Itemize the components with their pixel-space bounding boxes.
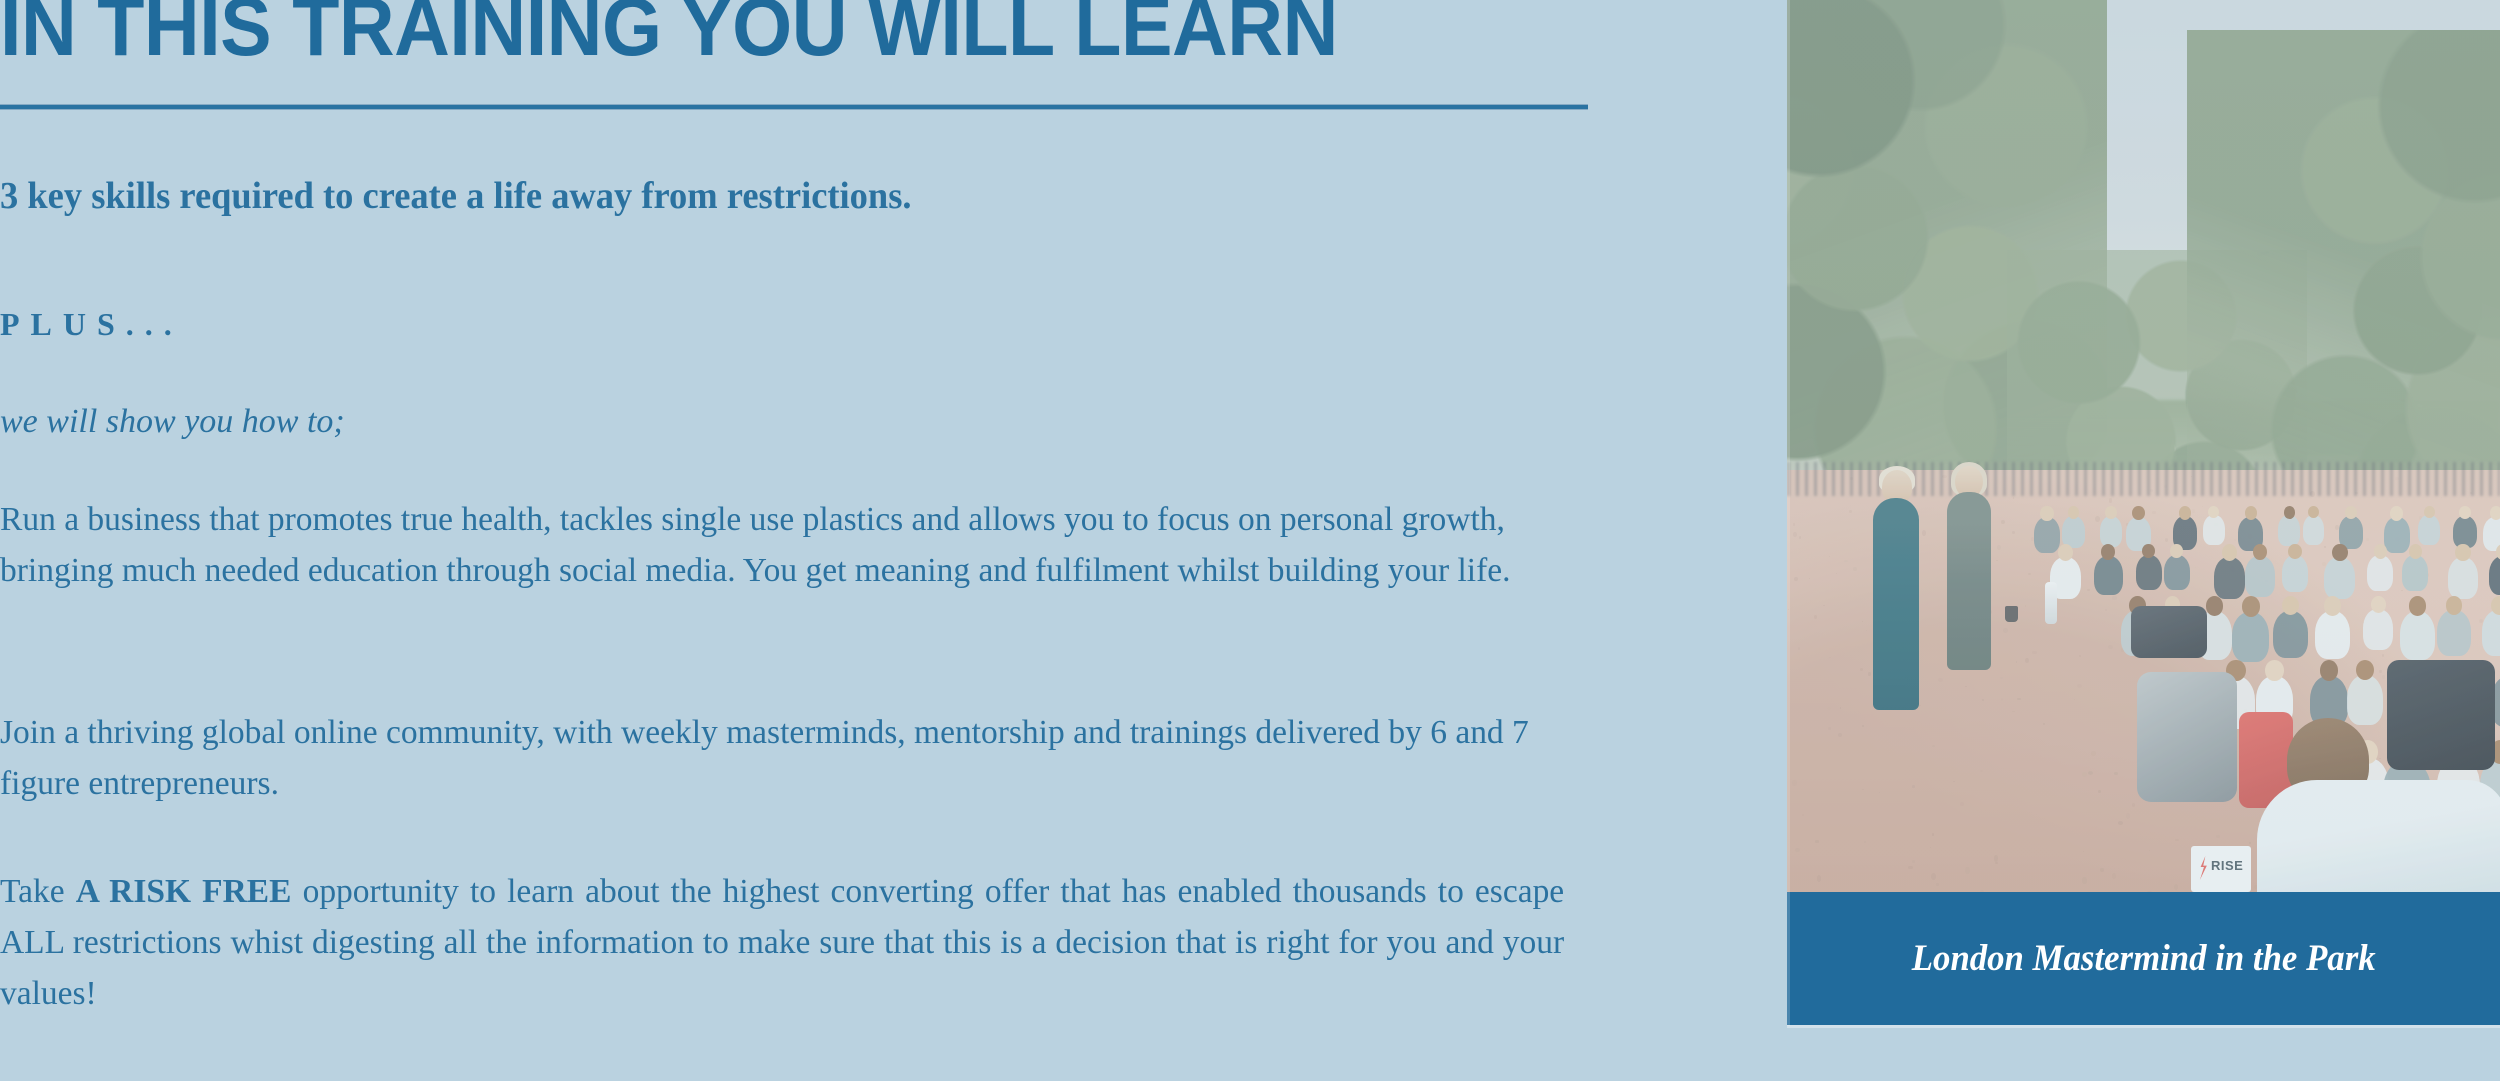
seated-person-head — [2455, 544, 2470, 561]
seated-person-head — [2491, 596, 2500, 615]
ground-texture-speck — [1953, 781, 1955, 782]
park-mastermind-photo: RISE — [1787, 0, 2500, 892]
subheading: 3 key skills required to create a life a… — [0, 172, 1526, 220]
seated-person — [2062, 516, 2085, 548]
ground-texture-speck — [1829, 556, 1830, 557]
paragraph-business: Run a business that promotes true health… — [0, 494, 1564, 596]
ground-texture-speck — [1849, 510, 1852, 513]
ground-texture-speck — [1844, 560, 1848, 563]
seated-person — [2418, 515, 2440, 545]
ground-texture-speck — [1879, 792, 1880, 793]
ground-texture-speck — [1795, 848, 1800, 852]
ground-texture-speck — [1866, 630, 1867, 631]
standing-person-a — [1873, 498, 1919, 710]
photo-caption-text: London Mastermind in the Park — [1912, 937, 2376, 981]
seated-person-head — [2242, 596, 2260, 617]
backpack-dark-small — [2131, 606, 2207, 658]
seated-person — [2400, 611, 2436, 660]
ground-texture-speck — [1793, 523, 1796, 526]
ground-texture-speck — [1793, 532, 1797, 537]
backpack-grey — [2137, 672, 2237, 802]
seated-person — [2214, 557, 2245, 599]
ground-texture-speck — [1838, 733, 1842, 737]
page-title: IN THIS TRAINING YOU WILL LEARN — [0, 0, 1479, 72]
seated-person — [2482, 610, 2500, 656]
seated-person — [2402, 555, 2428, 591]
photo-panel: RISE London Mastermind in the Park — [1787, 0, 2500, 1026]
ground-texture-speck — [1829, 657, 1831, 658]
seated-person — [2094, 556, 2123, 595]
photo-panel-bottom-edge — [1787, 1025, 2500, 1028]
seated-person-head — [2390, 506, 2403, 521]
seated-person-head — [2288, 544, 2301, 559]
ground-texture-speck — [2013, 497, 2015, 498]
seated-person-head — [2332, 544, 2347, 561]
water-bottle — [2045, 582, 2057, 624]
seated-person — [2363, 609, 2393, 650]
seated-person-head — [2179, 506, 2191, 520]
seated-person-head — [2132, 506, 2145, 520]
backpack-black — [2387, 660, 2495, 770]
ground-texture-speck — [1814, 615, 1817, 619]
ground-texture-speck — [2441, 497, 2442, 498]
ground-texture-speck — [1960, 802, 1964, 806]
rise-logo-text: RISE — [2211, 858, 2243, 873]
seated-person — [2489, 556, 2500, 595]
ground-texture-speck — [1815, 840, 1818, 843]
ground-texture-speck — [1794, 577, 1798, 581]
ground-texture-speck — [1799, 536, 1801, 538]
paragraph-risk-free: Take A RISK FREE opportunity to learn ab… — [0, 866, 1564, 1019]
ground-texture-speck — [1864, 841, 1866, 843]
seated-person — [2448, 557, 2479, 599]
promo-panel: IN THIS TRAINING YOU WILL LEARN 3 key sk… — [0, 0, 2500, 1081]
ground-texture-speck — [1828, 727, 1831, 730]
foreground-person-body — [2257, 780, 2500, 892]
ground-texture-speck — [1912, 860, 1915, 863]
seated-person — [2384, 517, 2410, 553]
seated-person-head — [2245, 506, 2257, 520]
seated-person — [2100, 516, 2123, 547]
seated-person — [2136, 555, 2162, 590]
seated-person — [2437, 610, 2470, 656]
ground-texture-speck — [1868, 672, 1871, 675]
ground-texture-speck — [1862, 789, 1864, 790]
ground-texture-speck — [1827, 707, 1831, 710]
risk-free-emphasis: A RISK FREE — [76, 873, 292, 910]
seated-person — [2303, 515, 2325, 545]
ground-texture-speck — [1809, 578, 1810, 579]
ground-texture-speck — [1932, 833, 1934, 836]
seated-person — [2245, 556, 2274, 596]
seated-person-head — [2265, 660, 2284, 681]
seated-person — [2273, 611, 2308, 658]
title-divider — [0, 104, 1588, 110]
ground-texture-speck — [1930, 847, 1931, 848]
seated-person-head — [2374, 544, 2387, 559]
rise-lightning-icon — [2197, 856, 2209, 880]
ground-texture-speck — [1836, 573, 1837, 574]
rise-logo-tag: RISE — [2191, 846, 2251, 892]
ground-texture-speck — [1862, 725, 1864, 727]
ground-texture-speck — [1938, 678, 1943, 682]
ground-texture-speck — [1912, 785, 1915, 788]
paragraph-community: Join a thriving global online community,… — [0, 707, 1564, 809]
ground-texture-speck — [1936, 883, 1938, 886]
ground-texture-speck — [1922, 530, 1926, 536]
seated-person-head — [2446, 596, 2463, 615]
seated-person — [2164, 555, 2190, 590]
seated-person-head — [2490, 506, 2500, 520]
seated-person-head — [2284, 506, 2295, 519]
seated-person-head — [2424, 506, 2435, 518]
seated-person — [2324, 557, 2355, 599]
seated-person — [2282, 555, 2309, 592]
ground-texture-speck — [1823, 605, 1825, 607]
ground-texture-speck — [1817, 875, 1822, 882]
seated-person — [2315, 611, 2350, 659]
ground-texture-speck — [1932, 745, 1935, 747]
ground-texture-speck — [1792, 780, 1797, 786]
text-column: IN THIS TRAINING YOU WILL LEARN 3 key sk… — [0, 0, 1590, 1081]
seated-person — [2347, 675, 2383, 725]
seated-person-head — [2105, 506, 2116, 519]
seated-person — [2367, 555, 2393, 591]
seated-person-head — [2409, 544, 2422, 559]
ground-texture-speck — [1862, 621, 1863, 622]
photo-caption-bar: London Mastermind in the Park — [1787, 892, 2500, 1025]
ground-texture-speck — [1908, 866, 1913, 869]
risk-free-prefix: Take — [0, 873, 76, 910]
seated-person — [2232, 612, 2269, 662]
lead-italic-line: we will show you how to; — [0, 400, 345, 444]
ground-texture-speck — [1798, 647, 1801, 650]
seated-person-head — [2040, 506, 2053, 521]
coffee-cup — [2005, 606, 2018, 622]
ground-texture-speck — [1802, 814, 1805, 816]
ground-texture-speck — [1853, 567, 1856, 571]
seated-person-head — [2371, 596, 2386, 613]
ground-texture-speck — [1931, 873, 1936, 880]
photo-panel-left-edge — [1787, 0, 1790, 1026]
seated-person — [2034, 517, 2060, 553]
plus-label: PLUS... — [0, 304, 183, 344]
ground-texture-speck — [1840, 707, 1841, 709]
seated-person-head — [2324, 596, 2341, 616]
seated-person — [2278, 515, 2300, 546]
seated-person — [2203, 515, 2225, 545]
ground-texture-speck — [1860, 668, 1863, 671]
